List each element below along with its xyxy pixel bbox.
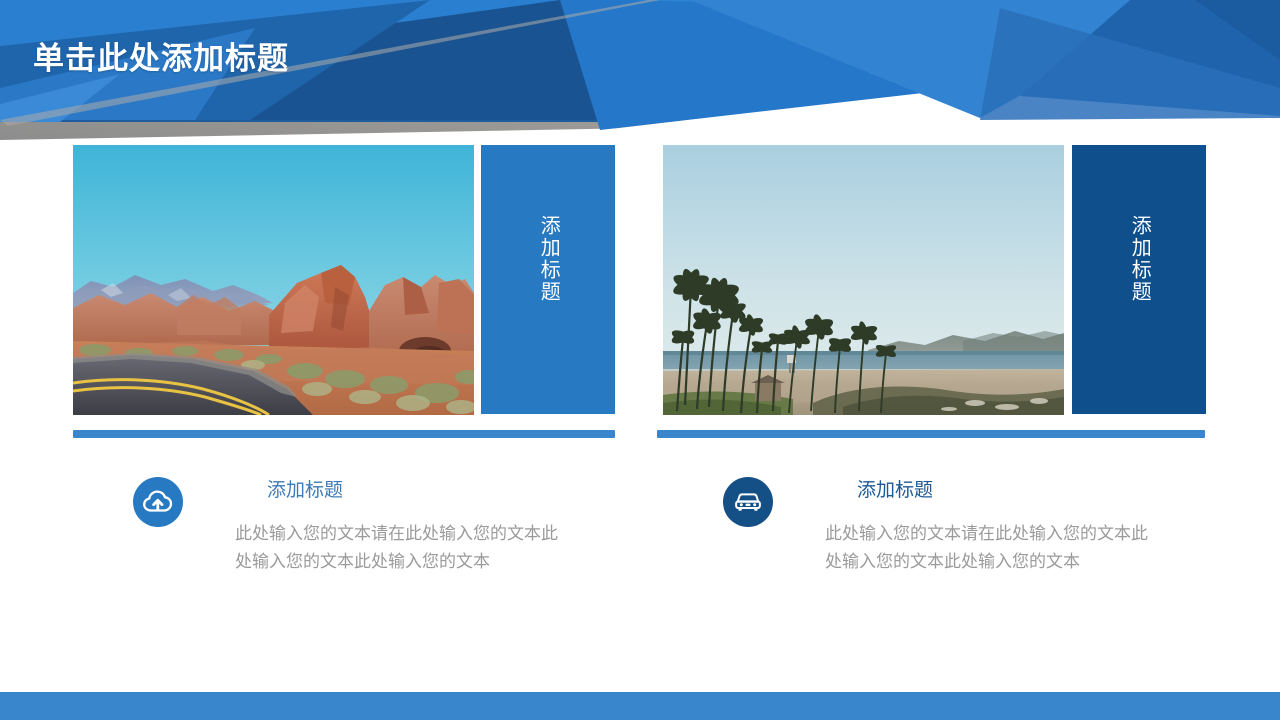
- cloud-upload-glyph: [143, 489, 173, 515]
- divider-bar-left: [73, 430, 615, 438]
- desert-road-photo[interactable]: [73, 145, 474, 415]
- car-glyph: [733, 490, 763, 514]
- block-body-left: 此处输入您的文本请在此处输入您的文本此处输入您的文本此处输入您的文本: [235, 520, 565, 575]
- block-heading-left: 添加标题: [267, 475, 343, 502]
- side-panel-right[interactable]: 添加标题: [1072, 145, 1206, 414]
- presentation-slide: 单击此处添加标题: [0, 0, 1280, 720]
- block-heading-right: 添加标题: [857, 475, 933, 502]
- block-body-right: 此处输入您的文本请在此处输入您的文本此处输入您的文本此处输入您的文本: [825, 520, 1155, 575]
- side-panel-label-left: 添加标题: [536, 215, 560, 303]
- side-panel-left[interactable]: 添加标题: [481, 145, 615, 414]
- car-icon[interactable]: [723, 477, 773, 527]
- palm-beach-photo[interactable]: [663, 145, 1064, 415]
- cloud-upload-icon[interactable]: [133, 477, 183, 527]
- slide-title: 单击此处添加标题: [33, 33, 289, 78]
- palm-beach-illustration: [663, 145, 1064, 415]
- header-banner: 单击此处添加标题: [0, 0, 1280, 140]
- divider-bar-right: [657, 430, 1205, 438]
- desert-road-illustration: [73, 145, 474, 415]
- side-panel-label-right: 添加标题: [1127, 215, 1151, 303]
- footer-bar: [0, 692, 1280, 720]
